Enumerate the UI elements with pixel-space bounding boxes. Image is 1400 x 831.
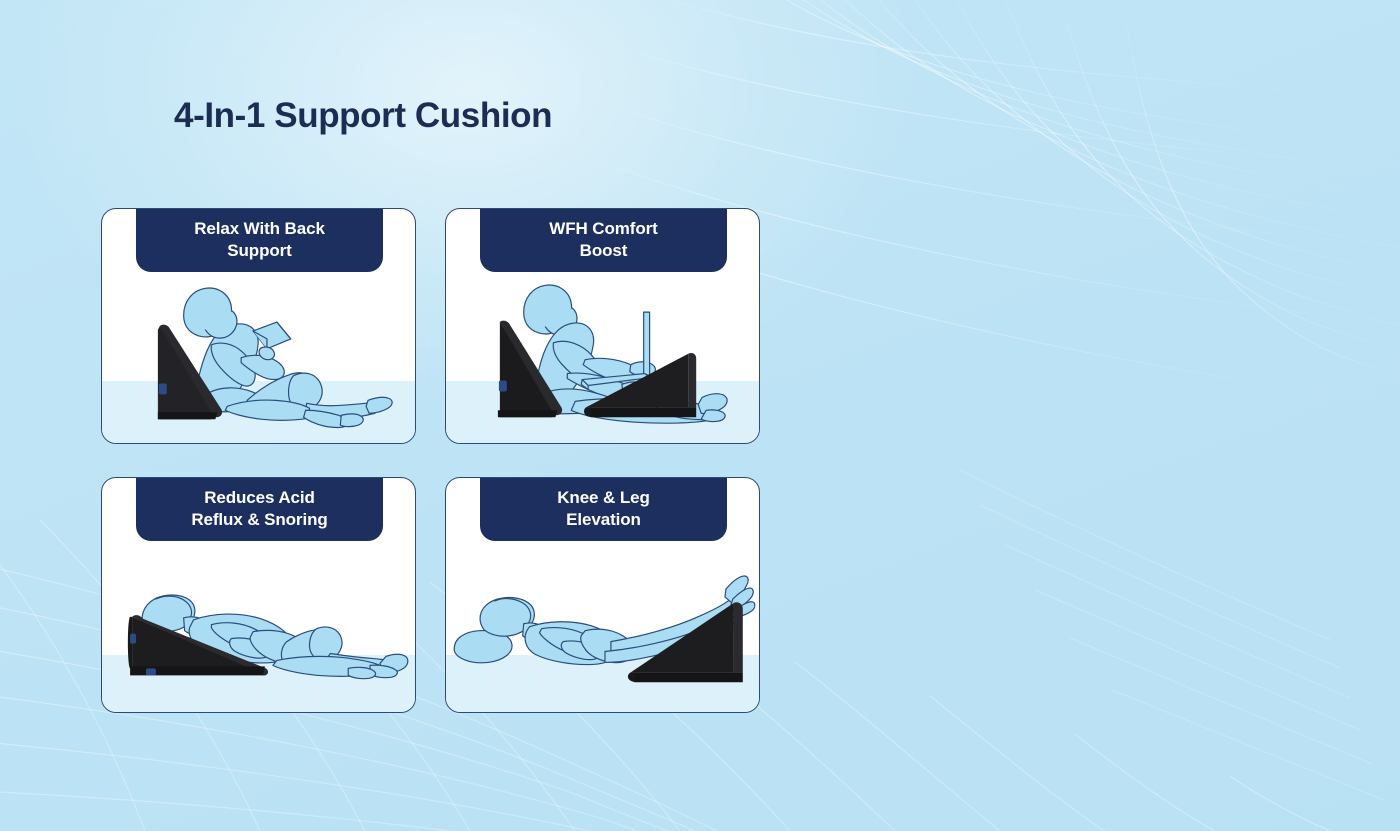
feature-card-relax-with-back-support[interactable]: Relax With Back Support (101, 208, 416, 444)
card-banner-knee-and-leg-elevation: Knee & Leg Elevation (480, 477, 727, 541)
feature-card-wfh-comfort-boost[interactable]: WFH Comfort Boost (445, 208, 760, 444)
infographic-canvas: 4-In-1 Support Cushion (0, 0, 1400, 831)
page-title: 4-In-1 Support Cushion (174, 94, 552, 138)
card-title: Relax With Back Support (186, 218, 333, 262)
card-title: Reduces Acid Reflux & Snoring (183, 487, 335, 531)
feature-card-reduces-acid-reflux-and-snoring[interactable]: Reduces Acid Reflux & Snoring (101, 477, 416, 713)
card-banner-relax-with-back-support: Relax With Back Support (136, 208, 383, 272)
card-title: WFH Comfort Boost (541, 218, 665, 262)
card-banner-wfh-comfort-boost: WFH Comfort Boost (480, 208, 727, 272)
feature-card-grid: Relax With Back Support (101, 208, 761, 713)
card-banner-reduces-acid-reflux-and-snoring: Reduces Acid Reflux & Snoring (136, 477, 383, 541)
card-title: Knee & Leg Elevation (549, 487, 658, 531)
feature-card-knee-and-leg-elevation[interactable]: Knee & Leg Elevation (445, 477, 760, 713)
